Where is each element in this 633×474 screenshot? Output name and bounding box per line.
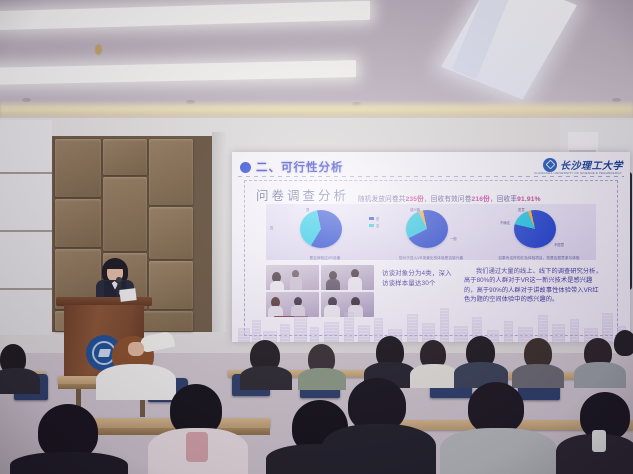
- slide-header: 二、可行性分析: [240, 159, 344, 175]
- audience-shoulders-white-top: [96, 364, 176, 400]
- section-bullet-icon: [240, 162, 251, 173]
- pie-2-caption: 您对于进入VR场景化的体验是否感兴趣: [376, 256, 486, 261]
- pie-3-caption: 如果有这样的红色体验项目，您是否愿意参与体验: [484, 256, 594, 261]
- audience-head: [614, 330, 633, 356]
- audience-shoulders: [0, 368, 40, 394]
- marble-seam: [0, 288, 52, 290]
- audience-hand: [128, 342, 144, 356]
- legend-swatch-1: [369, 217, 374, 220]
- lecture-hall-photo: 二、可行性分析 长沙理工大学 CHANGSHA UNIVERSITY OF SC…: [0, 0, 633, 474]
- wall-pad: [103, 177, 147, 251]
- slide-section-title: 二、可行性分析: [256, 159, 344, 175]
- ceiling-stain: [95, 44, 102, 55]
- pie-chart-3: 愿意 不确定 不愿意 如果有这样的红色体验项目，您是否愿意参与体验: [484, 208, 594, 260]
- slide-subtitle: 问卷调查分析: [256, 185, 349, 204]
- wall-pad: [149, 207, 193, 259]
- marble-seam: [0, 172, 52, 174]
- marble-wall-left: [0, 120, 52, 335]
- photo-2: [321, 265, 374, 290]
- wall-pad: [149, 261, 193, 309]
- pie-1-graphic: [300, 210, 342, 248]
- audience-head-front: [468, 382, 524, 434]
- marble-seam: [0, 230, 52, 232]
- pie-1-caption: 是否体验过VR设备: [270, 256, 380, 261]
- audience-shoulders: [512, 364, 564, 388]
- pie-chart-band: 是 否 是否体验过VR设备 是 否 感兴趣 一般 您对于进入VR场景化的体验是否…: [266, 204, 596, 260]
- audience-shoulders-front: [10, 452, 128, 474]
- photo-1: [266, 265, 319, 290]
- projection-screen: 二、可行性分析 长沙理工大学 CHANGSHA UNIVERSITY OF SC…: [232, 152, 630, 342]
- legend-swatch-2: [369, 224, 374, 227]
- audience-shoulders-front: [322, 424, 436, 474]
- audience-shoulders: [298, 368, 346, 390]
- university-name: 长沙理工大学: [560, 157, 623, 172]
- interview-summary-text: 访谈对象分为4类，深入访谈样本量达30个: [382, 269, 454, 289]
- research-conclusion-text: 我们通过大量的线上、线下的调查研究分析，高于80%的人群对于VR这一新兴技术是感…: [464, 267, 602, 304]
- pie-2-label-b: 一般: [450, 236, 457, 241]
- ceiling-light-strip-1: [0, 1, 370, 31]
- audience-scarf: [186, 432, 208, 462]
- pie-3-graphic: [514, 210, 556, 248]
- pie-2-graphic: [406, 210, 448, 248]
- pie-3-label-c: 不愿意: [554, 242, 564, 247]
- pie-chart-1: 是 否 是否体验过VR设备: [270, 208, 380, 260]
- presentation-slide: 二、可行性分析 长沙理工大学 CHANGSHA UNIVERSITY OF SC…: [232, 152, 630, 342]
- wall-pad: [149, 139, 193, 205]
- pie-3-label-a: 愿意: [518, 207, 525, 212]
- pie-2-label-a: 感兴趣: [410, 207, 420, 212]
- university-emblem-icon: [543, 158, 557, 172]
- wall-pad: [55, 139, 101, 197]
- pie-chart-2: 感兴趣 一般 您对于进入VR场景化的体验是否感兴趣: [376, 208, 486, 260]
- audience-shoulders: [574, 362, 626, 388]
- header-divider: [238, 176, 624, 177]
- ceiling-light-strip-2: [0, 60, 356, 85]
- pie-3-label-b: 不确定: [500, 220, 510, 225]
- presenter-fringe: [105, 261, 125, 269]
- pie-1-label-a: 是: [306, 207, 309, 212]
- audience-shoulders-front-grey: [440, 428, 556, 474]
- survey-statistics: 随机发放问卷共235份，回收有效问卷216份，回收率91.91%: [358, 193, 541, 203]
- university-logo: 长沙理工大学: [543, 157, 623, 172]
- audience-shoulders: [240, 366, 292, 390]
- wall-pad: [103, 139, 147, 175]
- university-subtext: CHANGSHA UNIVERSITY OF SCIENCE & TECHNOL…: [534, 171, 622, 175]
- skyline-watermark: [232, 300, 630, 342]
- microphone-head: [116, 277, 122, 282]
- audience-shoulders: [410, 364, 458, 388]
- wall-divider: [212, 132, 226, 332]
- podium-papers: [119, 288, 136, 302]
- water-bottle: [592, 430, 606, 452]
- pie-1-label-b: 否: [270, 225, 273, 230]
- wall-pad: [55, 199, 101, 247]
